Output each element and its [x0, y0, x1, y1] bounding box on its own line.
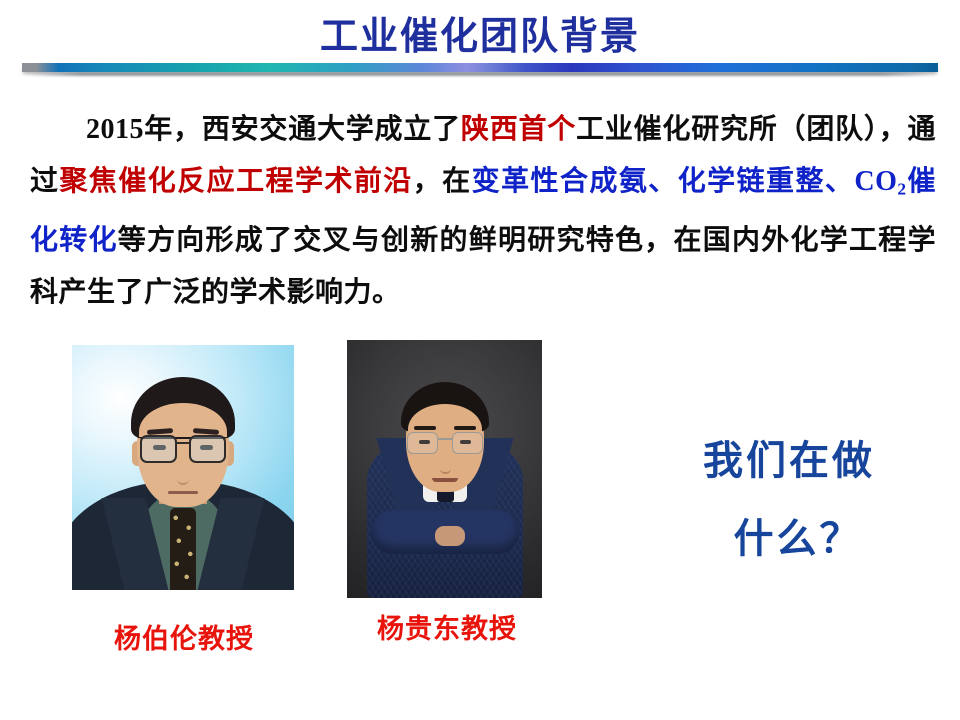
paragraph-segment-outro: 等方向形成了交叉与创新的鲜明研究特色，在国内外化学工程学科产生了广泛的学术影响力… [30, 225, 936, 308]
eyeglasses-icon [407, 432, 483, 454]
formula-co2: CO2 [854, 166, 906, 197]
page-title: 工业催化团队背景 [0, 14, 960, 60]
question-line-1: 我们在做 [648, 422, 930, 500]
question-block: 我们在做 什么？ [648, 422, 930, 578]
photo-caption-yang-bolun: 杨伯伦教授 [76, 617, 292, 656]
paragraph-highlight-shaanxi-first: 陕西首个 [461, 114, 576, 145]
title-rule-shadow [26, 72, 938, 76]
portrait-photo-yang-bolun [72, 345, 294, 590]
paragraph-segment-intro: 2015年，西安交通大学成立了 [86, 114, 461, 145]
eyebrow-right [454, 426, 476, 430]
necktie [170, 508, 196, 590]
hair [401, 382, 489, 432]
paragraph-highlight-directions: 变革性合成氨、化学链重整、 [472, 166, 855, 197]
nose [440, 456, 451, 474]
body-paragraph: 2015年，西安交通大学成立了陕西首个工业催化研究所（团队），通过聚焦催化反应工… [30, 104, 936, 319]
photo-caption-yang-guidong: 杨贵东教授 [355, 607, 539, 646]
question-line-2: 什么？ [648, 500, 930, 578]
paragraph-segment-at: ，在 [413, 166, 472, 197]
paragraph-highlight-research-frontier: 聚焦催化反应工程学术前沿 [59, 166, 412, 197]
mouth [168, 491, 198, 494]
lens-right [189, 435, 226, 463]
eyebrow-left [414, 426, 436, 430]
mouth [432, 478, 458, 482]
nose [177, 463, 189, 485]
portrait-photo-yang-guidong [347, 340, 542, 598]
lens-left [407, 432, 438, 454]
eyeglasses-icon [139, 435, 227, 461]
formula-co2-base: CO [854, 166, 897, 197]
lens-left [140, 435, 177, 463]
bridge [437, 438, 452, 440]
formula-co2-subscript: 2 [897, 179, 906, 198]
title-divider-bar [22, 63, 938, 72]
lens-right [452, 432, 483, 454]
hand [435, 526, 465, 546]
